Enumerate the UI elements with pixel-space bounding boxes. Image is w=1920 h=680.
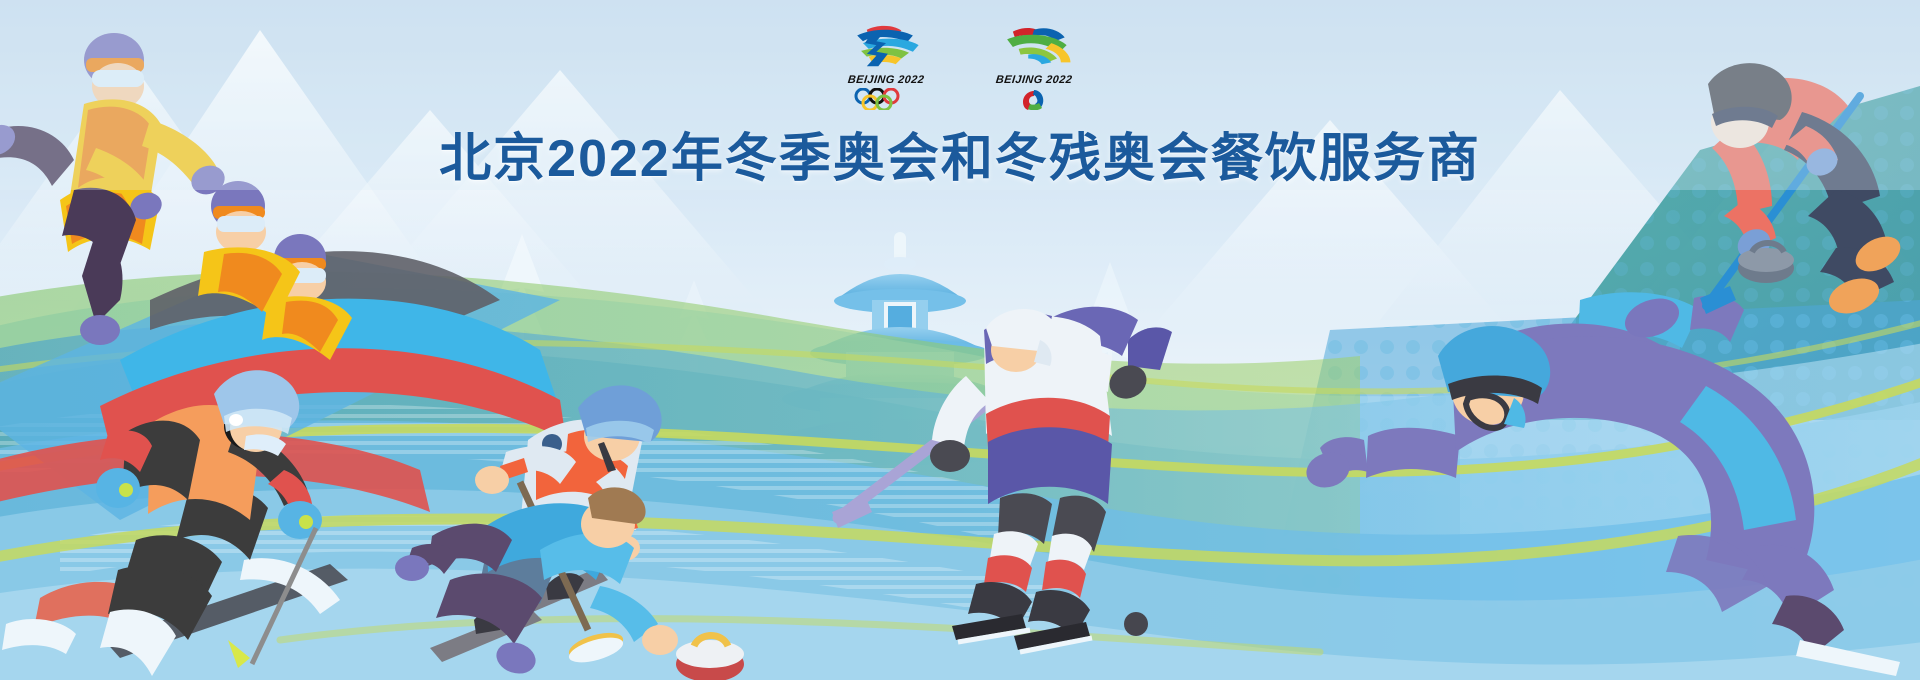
winter-dong-ribbon-icon [838,22,934,72]
flying-fei-ribbon-icon [986,22,1082,72]
beijing-2022-olympic-emblem: BEIJING 2022 [838,22,934,110]
olympic-banner: BEIJING 2022 [0,0,1920,680]
paralympic-agitos-icon [986,88,1082,110]
page-title: 北京2022年冬季奥会和冬残奥会餐饮服务商 [439,116,1481,191]
olympic-rings-icon [838,88,934,110]
olympic-wordmark: BEIJING 2022 [837,74,934,86]
emblem-row: BEIJING 2022 [0,22,1920,110]
beijing-2022-paralympic-emblem: BEIJING 2022 [986,22,1082,110]
paralympic-wordmark: BEIJING 2022 [985,74,1082,86]
title-container: 北京2022年冬季奥会和冬残奥会餐饮服务商 [0,116,1920,191]
